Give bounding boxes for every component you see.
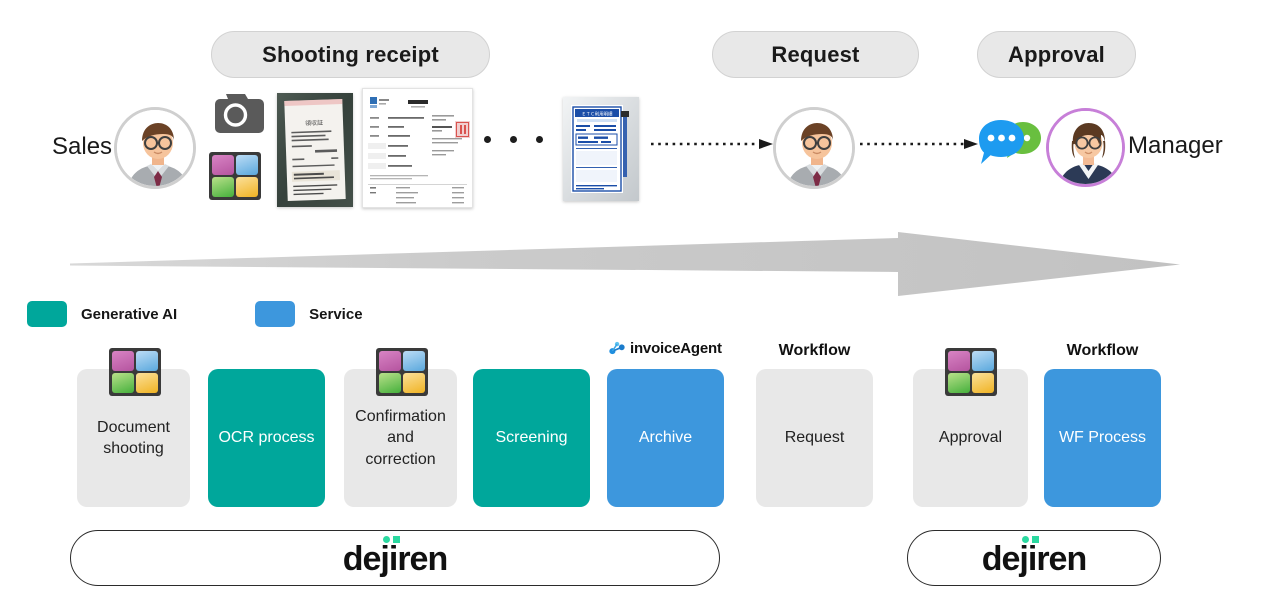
phase-pill-shooting-receipt: Shooting receipt [211, 31, 490, 78]
step-label: Screening [495, 427, 567, 448]
app-grid-icon [945, 348, 997, 396]
camera-icon [207, 90, 264, 135]
dejiren-accent-dot-square [1032, 536, 1039, 543]
dejiren-logo: dejiren [343, 540, 447, 576]
invoiceagent-logo: invoiceAgent [609, 340, 722, 357]
svg-text:ＥＴＣ利用明細: ＥＴＣ利用明細 [582, 110, 613, 117]
svg-text:領収証: 領収証 [305, 119, 323, 128]
invoiceagent-logo-text: invoiceAgent [630, 340, 722, 357]
step-label: OCR process [218, 427, 314, 448]
step-label: WF Process [1059, 427, 1146, 448]
ellipsis-dot [510, 136, 517, 143]
step-card-wf-process[interactable]: WF Process [1044, 369, 1161, 507]
chat-bubbles-icon [979, 116, 1045, 176]
step-label: Request [785, 427, 845, 448]
step-caption-workflow-wf: Workflow [1044, 342, 1161, 360]
legend-label-generative-ai: Generative AI [81, 306, 177, 323]
invoice-document-thumbnail [362, 88, 473, 208]
legend-swatch-generative-ai [27, 301, 67, 327]
invoiceagent-molecule-icon [609, 341, 626, 357]
step-label: Archive [639, 427, 692, 448]
phase-pill-approval: Approval [977, 31, 1136, 78]
dejiren-accent-dot-square [393, 536, 400, 543]
legend-swatch-service [255, 301, 295, 327]
app-grid-icon [376, 348, 428, 396]
male-business-avatar-icon [117, 110, 196, 189]
phase-pill-label: Shooting receipt [262, 42, 439, 68]
platform-bar-dejiren-right[interactable]: dejiren [907, 530, 1161, 586]
flow-arrow-to-approval [860, 137, 978, 149]
thumbnail-ellipsis [484, 136, 543, 143]
phase-pill-request: Request [712, 31, 919, 78]
process-steps: Document shooting OCR process Confirmati… [0, 333, 1272, 513]
step-card-archive[interactable]: Archive [607, 369, 724, 507]
step-card-request[interactable]: Request [756, 369, 873, 507]
step-caption-workflow-request: Workflow [756, 342, 873, 360]
female-business-avatar-icon [1049, 111, 1125, 187]
platform-bar-dejiren-left[interactable]: dejiren [70, 530, 720, 586]
app-grid-icon [209, 152, 261, 200]
step-label: Confirmation and correction [350, 406, 451, 469]
receipt-photo-thumbnail: 領収証 [277, 93, 353, 207]
ticket-photo-thumbnail: ＥＴＣ利用明細 [563, 97, 639, 201]
process-direction-arrow [70, 232, 1180, 300]
step-card-ocr-process[interactable]: OCR process [208, 369, 325, 507]
role-label-sales: Sales [52, 133, 112, 161]
dejiren-accent-dot-round [383, 536, 390, 543]
step-label: Approval [939, 427, 1002, 448]
legend-item-generative-ai: Generative AI [27, 301, 177, 327]
legend-label-service: Service [309, 306, 362, 323]
dejiren-logo: dejiren [982, 540, 1086, 576]
avatar-manager [1046, 108, 1125, 187]
flow-arrow-to-request [651, 137, 773, 149]
role-label-manager: Manager [1128, 132, 1223, 160]
male-business-avatar-icon [776, 110, 855, 189]
dejiren-logo-text: dejiren [982, 540, 1086, 578]
avatar-sales [114, 107, 196, 189]
step-card-screening[interactable]: Screening [473, 369, 590, 507]
dejiren-logo-text: dejiren [343, 540, 447, 578]
avatar-requester [773, 107, 855, 189]
ellipsis-dot [536, 136, 543, 143]
app-grid-icon [109, 348, 161, 396]
step-label: Document shooting [83, 417, 184, 459]
ellipsis-dot [484, 136, 491, 143]
legend: Generative AI Service [27, 301, 363, 327]
diagram-canvas: Shooting receipt Request Approval Sales [0, 0, 1272, 601]
phase-pill-label: Request [771, 42, 859, 68]
dejiren-accent-dot-round [1022, 536, 1029, 543]
legend-item-service: Service [255, 301, 362, 327]
phase-pill-label: Approval [1008, 42, 1105, 68]
